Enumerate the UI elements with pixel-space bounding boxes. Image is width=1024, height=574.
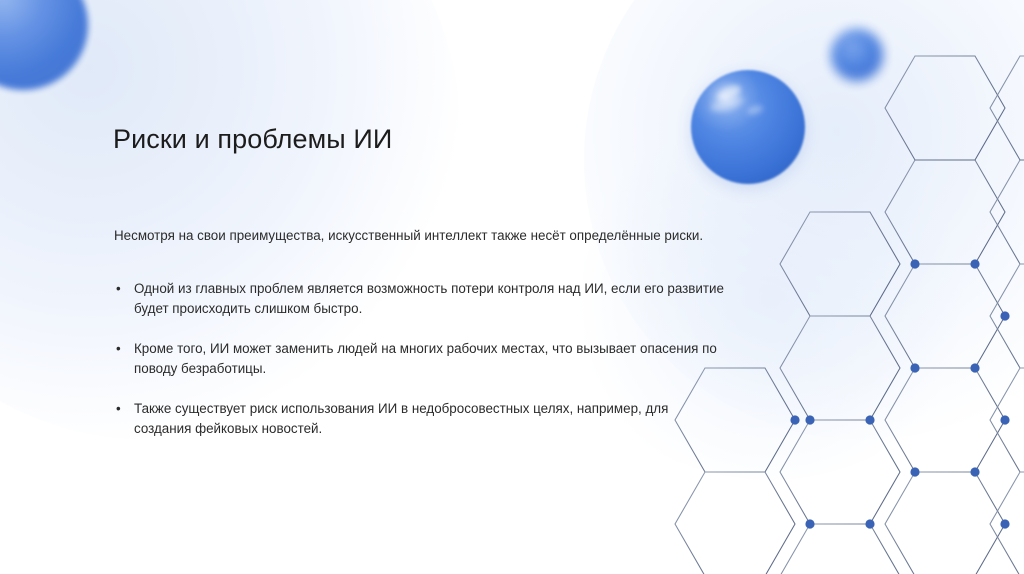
list-item: • Также существует риск использования ИИ… — [114, 399, 724, 438]
sphere-highlight — [715, 82, 744, 104]
list-item-text: Также существует риск использования ИИ в… — [134, 399, 724, 438]
slide-title: Риски и проблемы ИИ — [113, 122, 392, 156]
sphere-highlight — [708, 94, 745, 114]
slide-bullet-list: • Одной из главных проблем является возм… — [114, 279, 724, 438]
blue-sphere-small-icon — [831, 29, 883, 81]
presentation-slide: Риски и проблемы ИИ Несмотря на свои пре… — [0, 0, 1024, 574]
bullet-marker-icon: • — [116, 279, 121, 299]
blue-sphere-large-icon — [691, 70, 805, 184]
bullet-marker-icon: • — [116, 339, 121, 359]
sphere-highlight — [746, 104, 764, 117]
blue-sphere-corner-icon — [0, 0, 88, 90]
list-item-text: Кроме того, ИИ может заменить людей на м… — [134, 339, 724, 378]
bullet-marker-icon: • — [116, 399, 121, 419]
list-item-text: Одной из главных проблем является возмож… — [134, 279, 724, 318]
slide-intro-paragraph: Несмотря на свои преимущества, искусстве… — [114, 226, 714, 245]
hexagon-outlines — [675, 56, 1024, 574]
list-item: • Кроме того, ИИ может заменить людей на… — [114, 339, 724, 378]
list-item: • Одной из главных проблем является возм… — [114, 279, 724, 318]
hexagon-vertex-dots — [790, 259, 1009, 528]
